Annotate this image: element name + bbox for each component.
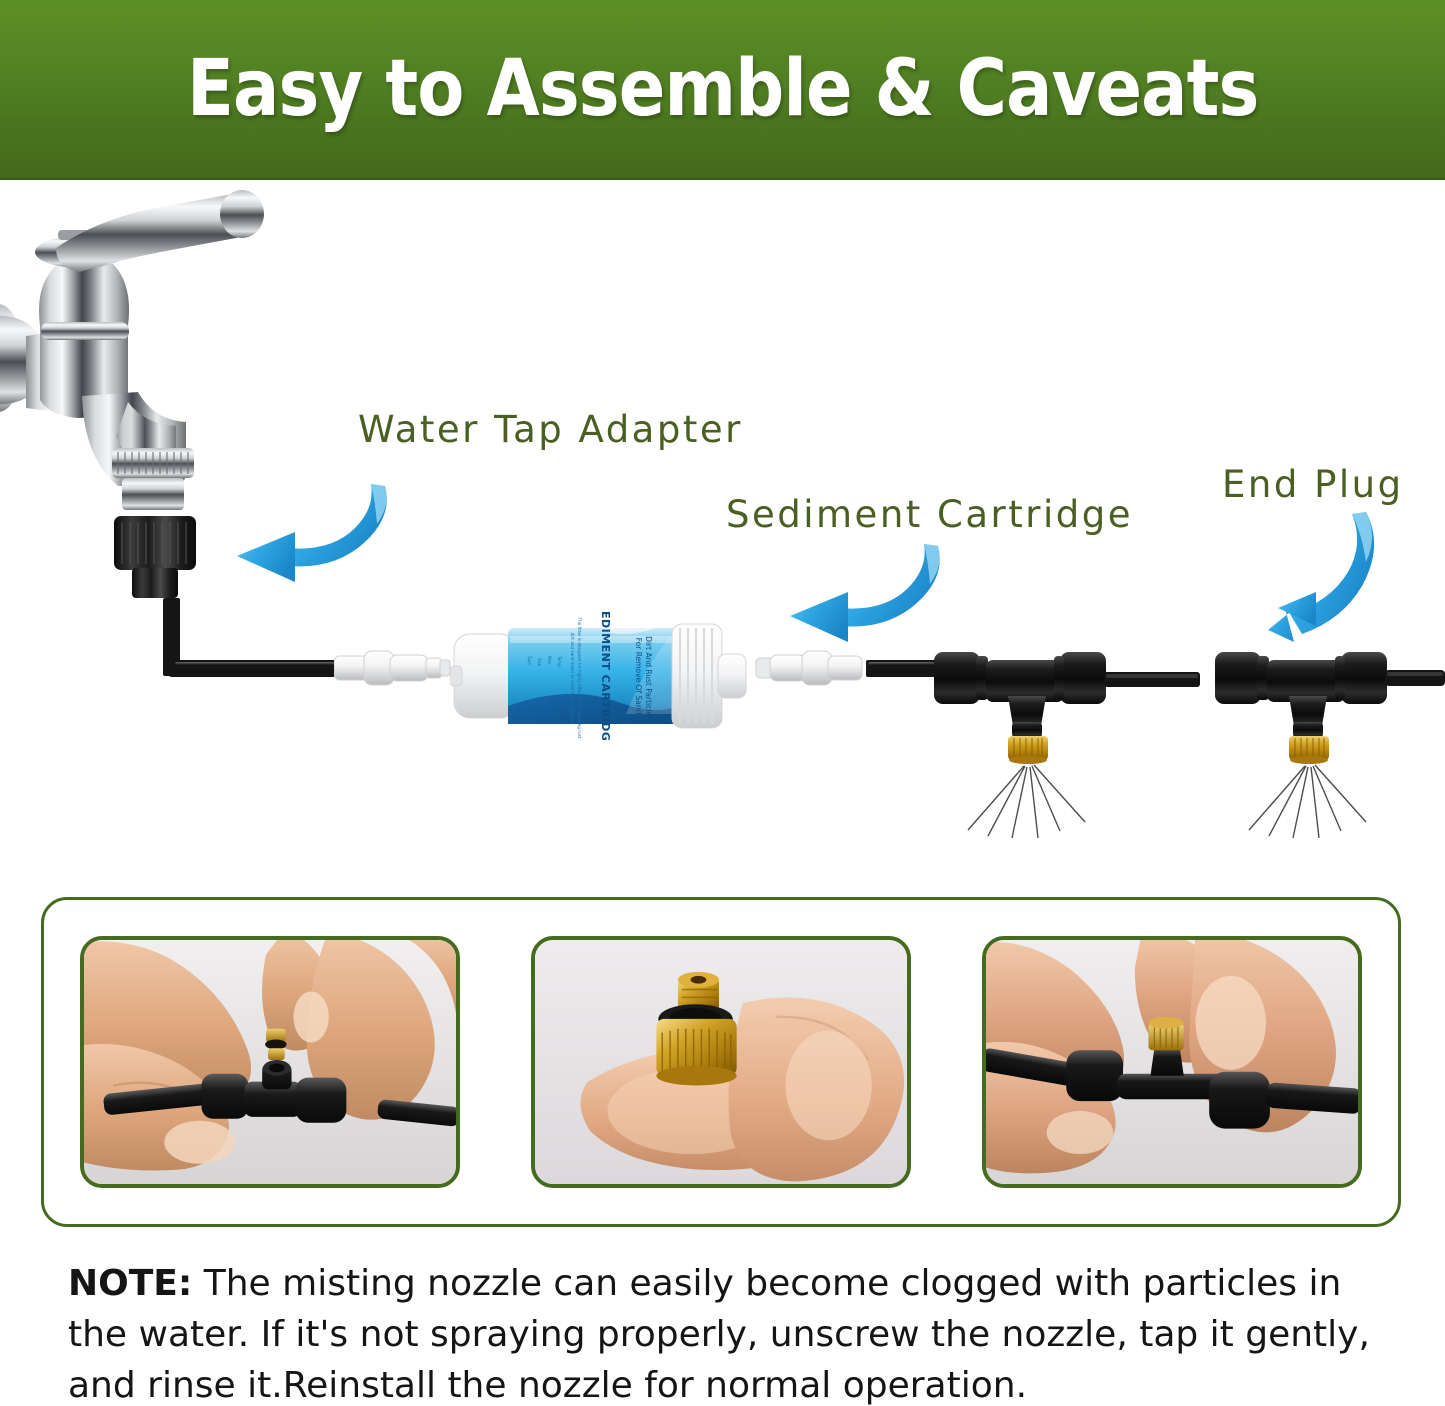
mist-spray-lines-2 xyxy=(1249,765,1366,838)
photo-install-nozzle xyxy=(80,936,460,1188)
infographic-canvas: Easy to Assemble & Caveats Water Tap Ada… xyxy=(0,0,1445,1406)
svg-text:dirt and sand down to control: dirt and sand down to control size parti… xyxy=(570,633,575,724)
page-title: Easy to Assemble & Caveats xyxy=(187,44,1258,134)
arrow-to-cartridge-icon xyxy=(778,530,948,655)
end-plug-part xyxy=(1335,652,1445,704)
quick-connector-left xyxy=(334,644,456,692)
instruction-photo-panel xyxy=(41,897,1401,1227)
svg-text:5μm: 5μm xyxy=(527,656,532,665)
cartridge-brand-text: SEDIMENT CARTRIDGE xyxy=(599,610,612,740)
cartridge-desc-line2: Dirt And Rust Particle xyxy=(644,636,653,716)
svg-text:Temp: Temp xyxy=(557,655,562,667)
mist-spray-lines-1 xyxy=(968,765,1085,838)
photo-tighten-nozzle xyxy=(982,936,1362,1188)
brass-nozzle-1 xyxy=(1008,736,1048,764)
tee-nozzle-assembly-2 xyxy=(1215,626,1445,841)
hose-highlight-1 xyxy=(175,662,341,667)
arrow-to-end-plug-icon xyxy=(1238,500,1388,645)
photo-nozzle-closeup xyxy=(531,936,911,1188)
note-prefix: NOTE: xyxy=(68,1263,192,1304)
arrow-to-tap-adapter-icon xyxy=(225,470,395,595)
brass-nozzle-being-tightened xyxy=(1149,1017,1184,1050)
brass-nozzle-in-hand xyxy=(265,1029,287,1060)
cartridge-fine-print: The filter is designed for highly effect… xyxy=(577,617,582,739)
svg-text:Size: Size xyxy=(537,658,542,667)
tee-nozzle-assembly-1 xyxy=(930,626,1200,841)
note-body: The misting nozzle can easily become clo… xyxy=(68,1263,1370,1406)
cartridge-desc-line1: For Remove Of Sand xyxy=(634,638,643,715)
sediment-cartridge-part: SEDIMENT CARTRIDGE For Remove Of Sand Di… xyxy=(450,610,750,740)
tap-adapter-part xyxy=(114,516,196,598)
assembly-diagram: Water Tap Adapter Sediment Cartridge End… xyxy=(0,178,1445,878)
note-block: NOTE: The misting nozzle can easily beco… xyxy=(68,1258,1388,1406)
svg-text:Max: Max xyxy=(547,656,552,665)
callout-water-tap-adapter: Water Tap Adapter xyxy=(358,408,743,451)
header-banner: Easy to Assemble & Caveats xyxy=(0,0,1445,180)
brass-nozzle-2 xyxy=(1289,736,1329,764)
